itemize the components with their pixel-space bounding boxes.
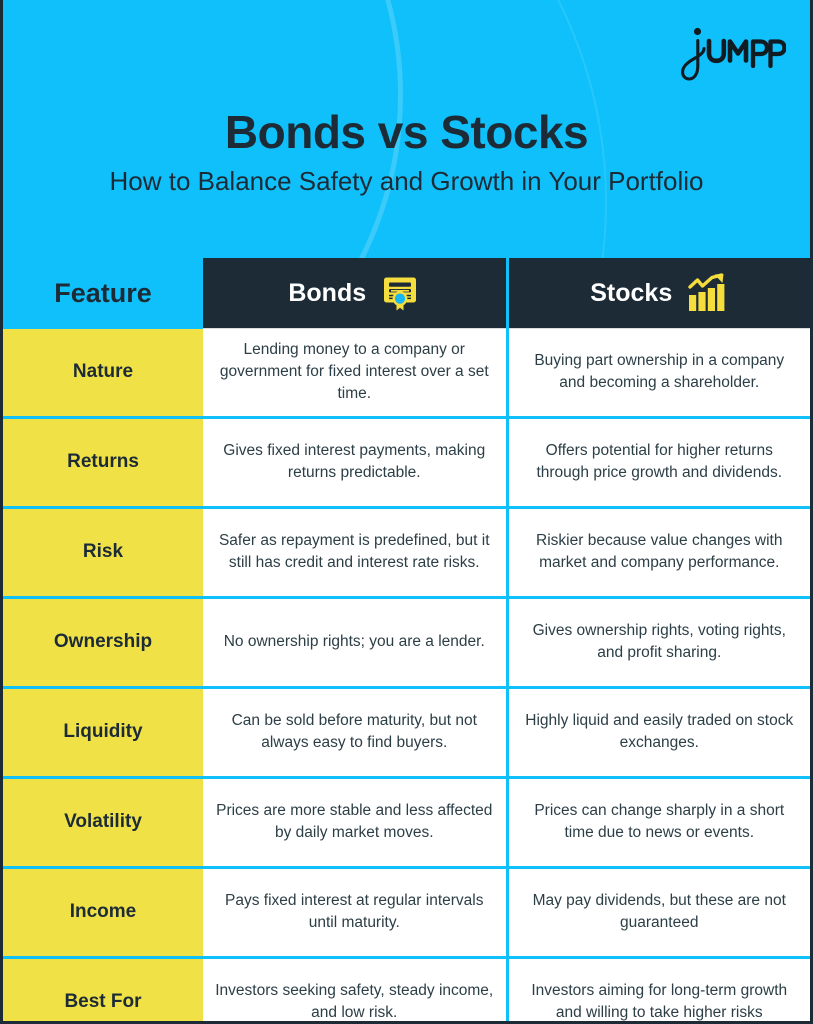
stocks-cell: Offers potential for higher returns thro… [507, 417, 810, 507]
table-row: VolatilityPrices are more stable and les… [3, 777, 810, 867]
stocks-cell: Highly liquid and easily traded on stock… [507, 687, 810, 777]
stocks-cell: Riskier because value changes with marke… [507, 507, 810, 597]
bonds-cell: Prices are more stable and less affected… [203, 777, 507, 867]
column-header-bonds-label: Bonds [288, 279, 366, 308]
comparison-table: Feature Bonds [3, 258, 810, 1024]
column-header-bonds: Bonds [203, 258, 507, 329]
brand-logo [678, 22, 786, 84]
certificate-icon [380, 273, 420, 313]
column-header-feature: Feature [3, 258, 203, 329]
stocks-cell: Prices can change sharply in a short tim… [507, 777, 810, 867]
table-body: NatureLending money to a company or gove… [3, 329, 810, 1024]
header-banner: Bonds vs Stocks How to Balance Safety an… [3, 0, 810, 258]
column-header-stocks: Stocks [507, 258, 810, 329]
table-header-row: Feature Bonds [3, 258, 810, 329]
feature-label-cell: Income [3, 867, 203, 957]
bonds-cell: Lending money to a company or government… [203, 329, 507, 418]
column-header-feature-label: Feature [54, 278, 152, 308]
feature-label-cell: Volatility [3, 777, 203, 867]
table-row: NatureLending money to a company or gove… [3, 329, 810, 418]
feature-label-cell: Nature [3, 329, 203, 418]
table-header: Feature Bonds [3, 258, 810, 329]
bonds-cell: Safer as repayment is predefined, but it… [203, 507, 507, 597]
stocks-cell: Buying part ownership in a company and b… [507, 329, 810, 418]
feature-label-cell: Ownership [3, 597, 203, 687]
stocks-cell: Investors aiming for long-term growth an… [507, 957, 810, 1024]
page-title: Bonds vs Stocks [3, 108, 810, 156]
table-row: RiskSafer as repayment is predefined, bu… [3, 507, 810, 597]
feature-label-cell: Risk [3, 507, 203, 597]
column-header-stocks-label: Stocks [590, 279, 672, 308]
table-row: OwnershipNo ownership rights; you are a … [3, 597, 810, 687]
bar-chart-up-icon [686, 273, 728, 313]
bonds-cell: Gives fixed interest payments, making re… [203, 417, 507, 507]
table-row: IncomePays fixed interest at regular int… [3, 867, 810, 957]
page-subtitle: How to Balance Safety and Growth in Your… [3, 166, 810, 197]
feature-label-cell: Liquidity [3, 687, 203, 777]
stocks-cell: May pay dividends, but these are not gua… [507, 867, 810, 957]
stocks-cell: Gives ownership rights, voting rights, a… [507, 597, 810, 687]
bonds-cell: Investors seeking safety, steady income,… [203, 957, 507, 1024]
jumpp-logo-icon [678, 22, 786, 84]
bonds-cell: Can be sold before maturity, but not alw… [203, 687, 507, 777]
bonds-cell: Pays fixed interest at regular intervals… [203, 867, 507, 957]
table-row: ReturnsGives fixed interest payments, ma… [3, 417, 810, 507]
table-row: Best ForInvestors seeking safety, steady… [3, 957, 810, 1024]
feature-label-cell: Returns [3, 417, 203, 507]
title-block: Bonds vs Stocks How to Balance Safety an… [3, 108, 810, 197]
table-row: LiquidityCan be sold before maturity, bu… [3, 687, 810, 777]
feature-label-cell: Best For [3, 957, 203, 1024]
bonds-cell: No ownership rights; you are a lender. [203, 597, 507, 687]
infographic-poster: Bonds vs Stocks How to Balance Safety an… [0, 0, 813, 1024]
